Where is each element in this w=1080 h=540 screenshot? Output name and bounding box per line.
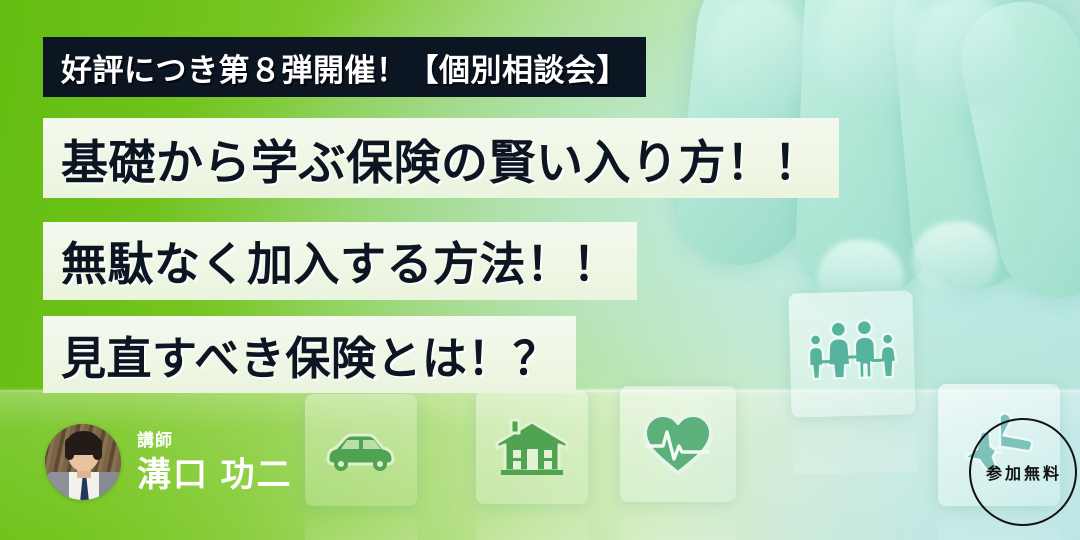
family-icon	[802, 316, 902, 393]
headline-band-2: 無駄なく加入する方法！！	[43, 222, 637, 300]
block-family	[788, 290, 915, 417]
headline-band-1: 基礎から学ぶ保険の賢い入り方！！	[43, 118, 839, 198]
headline-text-3: 見直すべき保険とは！？	[61, 322, 558, 387]
block-house	[476, 390, 588, 504]
headline-text-1: 基礎から学ぶ保険の賢い入り方！！	[61, 124, 821, 193]
avatar-hair-side-right	[93, 438, 102, 460]
avatar	[45, 424, 121, 500]
presenter-block: 講師 溝口 功二	[45, 424, 292, 500]
knuckle-highlight	[706, 0, 810, 116]
presenter-role-label: 講師	[137, 432, 292, 449]
free-participation-text: 参加無料	[986, 460, 1062, 484]
avatar-hair-side-left	[65, 438, 74, 460]
eyebrow-text: 好評につき第８弾開催！【個別相談会】	[61, 45, 628, 90]
insurance-seminar-banner: 好評につき第８弾開催！【個別相談会】 基礎から学ぶ保険の賢い入り方！！ 無駄なく…	[0, 0, 1080, 540]
house-icon	[494, 417, 570, 477]
block-heart	[620, 386, 736, 502]
car-icon	[322, 427, 400, 473]
heart-pulse-icon	[641, 411, 715, 477]
presenter-name: 溝口 功二	[137, 458, 292, 492]
block-car	[305, 394, 417, 506]
headline-band-3: 見直すべき保険とは！？	[43, 316, 576, 393]
headline-text-2: 無駄なく加入する方法！！	[61, 228, 619, 294]
eyebrow-banner: 好評につき第８弾開催！【個別相談会】	[43, 37, 646, 97]
presenter-text: 講師 溝口 功二	[137, 432, 292, 492]
free-participation-badge: 参加無料	[969, 418, 1077, 526]
